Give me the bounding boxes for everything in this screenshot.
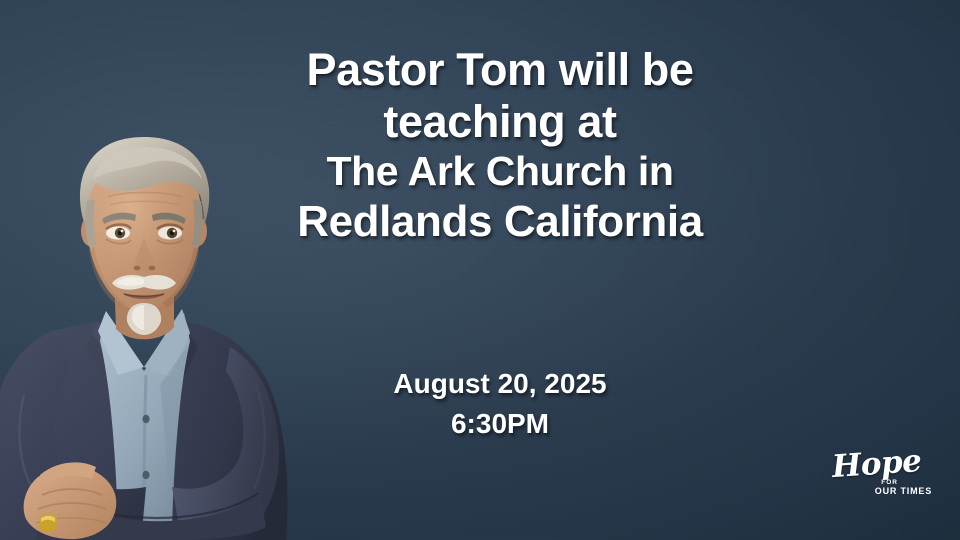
logo-tagline: FOR OUR TIMES <box>875 480 932 496</box>
event-time: 6:30PM <box>230 404 770 444</box>
headline: Pastor Tom will be teaching at The Ark C… <box>200 44 800 247</box>
logo-tagline-main: OUR TIMES <box>875 487 932 496</box>
head <box>80 137 209 335</box>
headline-line-1: Pastor Tom will be <box>200 44 800 96</box>
headline-line-4: Redlands California <box>200 196 800 247</box>
event-datetime: August 20, 2025 6:30PM <box>230 364 770 444</box>
event-date: August 20, 2025 <box>230 364 770 404</box>
logo-wordmark: Hope <box>831 443 923 485</box>
announcement-graphic: Pastor Tom will be teaching at The Ark C… <box>0 0 960 540</box>
headline-line-2: teaching at <box>200 96 800 148</box>
hope-for-our-times-logo: Hope FOR OUR TIMES <box>832 446 932 498</box>
headline-line-3: The Ark Church in <box>200 148 800 196</box>
